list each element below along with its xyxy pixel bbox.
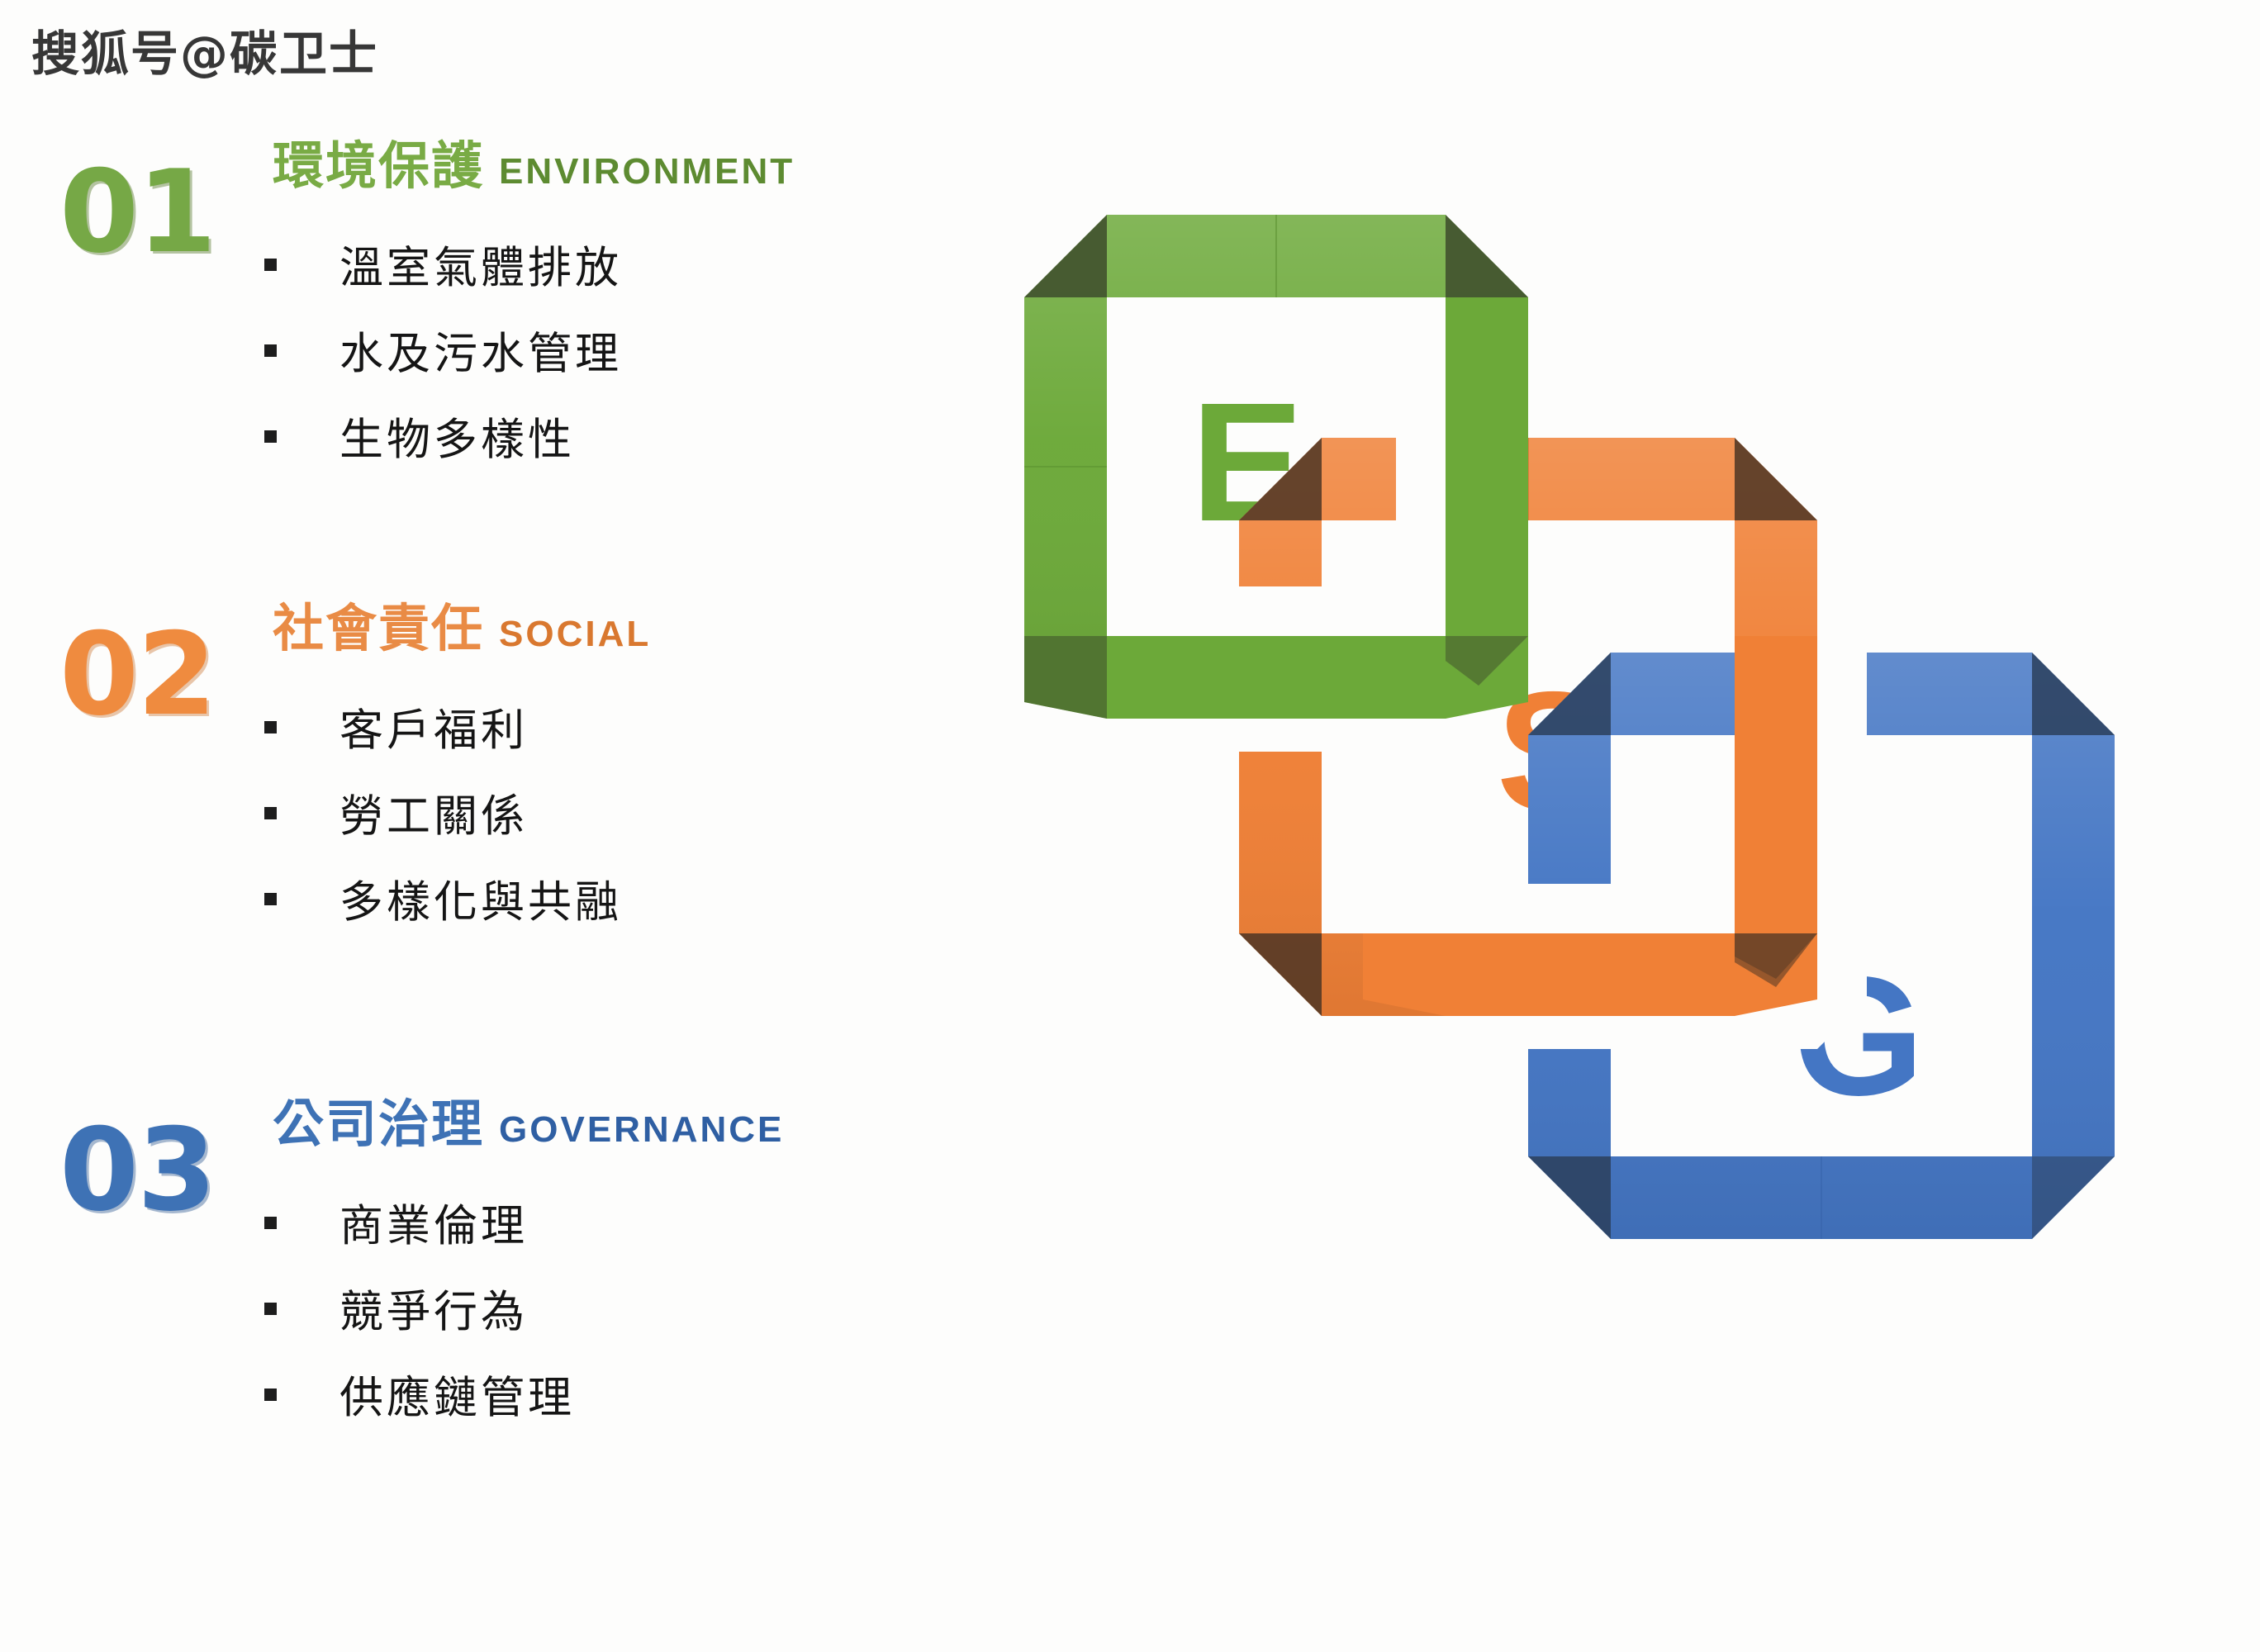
bullet-square-icon xyxy=(264,430,277,443)
list-item: 水及污水管理 xyxy=(264,307,622,393)
list-item: 競爭行為 xyxy=(264,1265,575,1351)
list-item: 溫室氣體排放 xyxy=(264,221,622,307)
bullet-label: 競爭行為 xyxy=(339,1277,528,1340)
section-title-cn-governance: 公司治理 xyxy=(273,1082,484,1156)
bullet-label: 客戶福利 xyxy=(339,695,528,758)
section-title-en-governance: GOVERNANCE xyxy=(499,1109,784,1151)
esg-interlocking-rings-graphic: E S G xyxy=(900,91,2239,1330)
section-heading-environment: 環境保護 ENVIRONMENT xyxy=(273,124,795,198)
list-item: 商業倫理 xyxy=(264,1180,575,1265)
section-number-03: 03 xyxy=(59,1113,215,1227)
bullet-square-icon xyxy=(264,1303,277,1315)
section-number-02: 02 xyxy=(59,618,215,732)
list-item: 勞工關係 xyxy=(264,770,622,856)
section-title-cn-social: 社會責任 xyxy=(273,586,484,661)
bullet-square-icon xyxy=(264,893,277,905)
bullet-square-icon xyxy=(264,1217,277,1229)
bullet-square-icon xyxy=(264,721,277,733)
esg-pillar-list: 01 環境保護 ENVIRONMENT 溫室氣體排放 水及污水管理 生物多樣性 … xyxy=(0,124,925,1528)
list-item: 供應鏈管理 xyxy=(264,1351,575,1437)
bullet-list-governance: 商業倫理 競爭行為 供應鏈管理 xyxy=(264,1180,575,1437)
section-title-cn-environment: 環境保護 xyxy=(273,124,484,198)
section-number-01: 01 xyxy=(59,155,215,269)
bullet-label: 商業倫理 xyxy=(339,1191,528,1254)
sohu-watermark: 搜狐号@碳卫士 xyxy=(31,15,378,84)
list-item: 多樣化與共融 xyxy=(264,856,622,942)
bullet-square-icon xyxy=(264,807,277,819)
bullet-square-icon xyxy=(264,259,277,271)
bullet-square-icon xyxy=(264,344,277,357)
bullet-list-social: 客戶福利 勞工關係 多樣化與共融 xyxy=(264,684,622,942)
bullet-list-environment: 溫室氣體排放 水及污水管理 生物多樣性 xyxy=(264,221,622,479)
bullet-label: 多樣化與共融 xyxy=(339,867,622,930)
section-heading-governance: 公司治理 GOVERNANCE xyxy=(273,1082,784,1156)
list-item: 客戶福利 xyxy=(264,684,622,770)
section-title-en-social: SOCIAL xyxy=(499,614,651,655)
bullet-square-icon xyxy=(264,1389,277,1401)
bullet-label: 供應鏈管理 xyxy=(339,1363,575,1426)
section-heading-social: 社會責任 SOCIAL xyxy=(273,586,651,661)
section-title-en-environment: ENVIRONMENT xyxy=(499,151,795,192)
bullet-label: 生物多樣性 xyxy=(339,405,575,468)
bullet-label: 勞工關係 xyxy=(339,781,528,844)
bullet-label: 水及污水管理 xyxy=(339,319,622,382)
list-item: 生物多樣性 xyxy=(264,393,622,479)
bullet-label: 溫室氣體排放 xyxy=(339,233,622,296)
